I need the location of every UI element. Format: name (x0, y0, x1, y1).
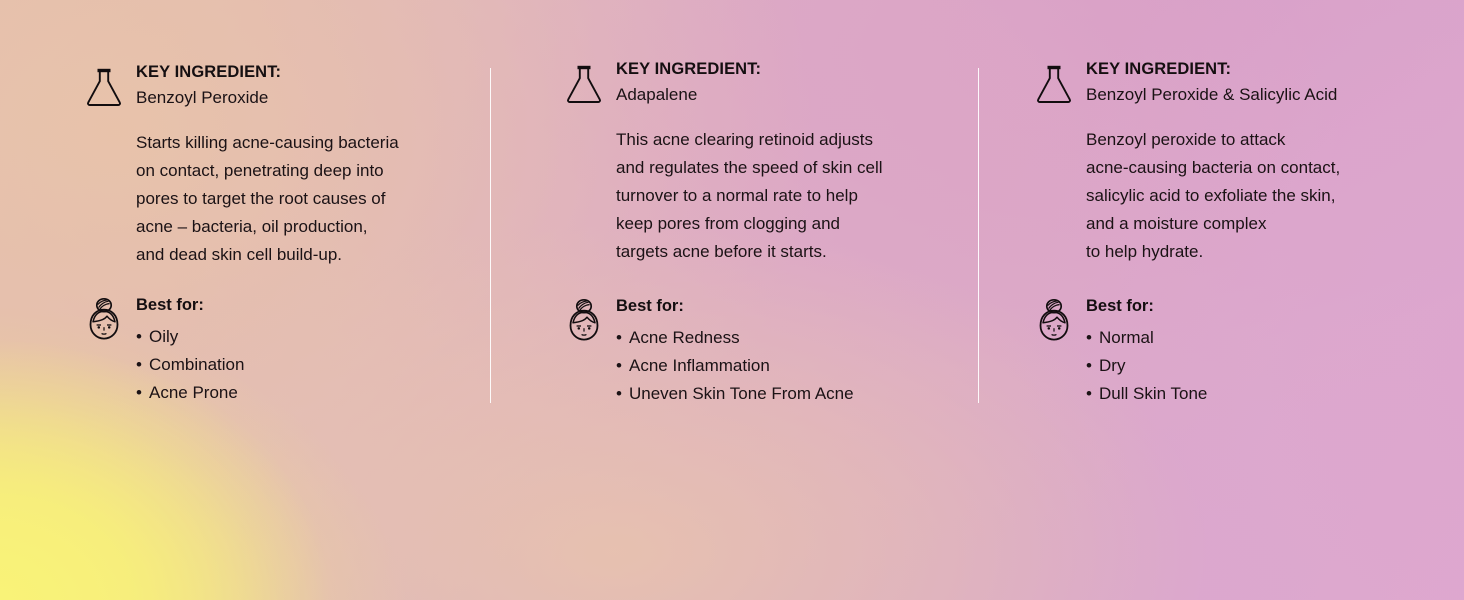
list-item: •Combination (136, 351, 470, 379)
best-for-text-3: Best for: •Normal •Dry •Dull Skin Tone (1086, 298, 1424, 408)
bullet-icon: • (616, 352, 629, 380)
key-ingredient-text-1: KEY INGREDIENT: Benzoyl Peroxide Starts … (136, 64, 470, 269)
ingredient-description-3: Benzoyl peroxide to attack acne-causing … (1086, 126, 1424, 266)
list-item-label: Uneven Skin Tone From Acne (629, 384, 854, 403)
ingredient-name-1: Benzoyl Peroxide (136, 89, 470, 107)
best-for-title-1: Best for: (136, 297, 470, 314)
flask-icon (82, 64, 126, 112)
list-item: •Acne Redness (616, 324, 952, 352)
ingredient-name-3: Benzoyl Peroxide & Salicylic Acid (1086, 86, 1424, 104)
best-for-block-2: Best for: •Acne Redness •Acne Inflammati… (562, 298, 952, 408)
bullet-icon: • (136, 379, 149, 407)
list-item-label: Acne Redness (629, 328, 740, 347)
list-item-label: Dry (1099, 356, 1125, 375)
key-ingredient-block-3: KEY INGREDIENT: Benzoyl Peroxide & Salic… (1032, 61, 1424, 266)
list-item-label: Acne Prone (149, 383, 238, 402)
bullet-icon: • (136, 351, 149, 379)
key-ingredient-block-2: KEY INGREDIENT: Adapalene This acne clea… (562, 61, 952, 266)
ingredient-description-2: This acne clearing retinoid adjusts and … (616, 126, 952, 266)
bullet-icon: • (136, 323, 149, 351)
bullet-icon: • (1086, 380, 1099, 408)
best-for-title-2: Best for: (616, 298, 952, 315)
list-item: •Dry (1086, 352, 1424, 380)
key-ingredient-text-3: KEY INGREDIENT: Benzoyl Peroxide & Salic… (1086, 61, 1424, 266)
best-for-list-3: •Normal •Dry •Dull Skin Tone (1086, 324, 1424, 408)
columns-container: KEY INGREDIENT: Benzoyl Peroxide Starts … (0, 0, 1464, 600)
column-divider-2 (978, 68, 979, 403)
column-divider-1 (490, 68, 491, 403)
list-item-label: Combination (149, 355, 244, 374)
key-ingredient-kicker-3: KEY INGREDIENT: (1086, 61, 1424, 78)
key-ingredient-kicker-1: KEY INGREDIENT: (136, 64, 470, 81)
key-ingredient-block-1: KEY INGREDIENT: Benzoyl Peroxide Starts … (82, 64, 470, 269)
bullet-icon: • (616, 380, 629, 408)
ingredient-description-1: Starts killing acne-causing bacteria on … (136, 129, 470, 269)
best-for-list-2: •Acne Redness •Acne Inflammation •Uneven… (616, 324, 952, 408)
list-item: •Oily (136, 323, 470, 351)
list-item: •Dull Skin Tone (1086, 380, 1424, 408)
face-icon (82, 297, 126, 345)
list-item-label: Normal (1099, 328, 1154, 347)
list-item-label: Dull Skin Tone (1099, 384, 1207, 403)
best-for-block-3: Best for: •Normal •Dry •Dull Skin Tone (1032, 298, 1424, 408)
best-for-list-1: •Oily •Combination •Acne Prone (136, 323, 470, 407)
list-item: •Acne Inflammation (616, 352, 952, 380)
bullet-icon: • (1086, 324, 1099, 352)
ingredient-comparison-poster: KEY INGREDIENT: Benzoyl Peroxide Starts … (0, 0, 1464, 600)
list-item: •Normal (1086, 324, 1424, 352)
bullet-icon: • (1086, 352, 1099, 380)
best-for-block-1: Best for: •Oily •Combination •Acne Prone (82, 297, 470, 407)
list-item-label: Oily (149, 327, 178, 346)
list-item-label: Acne Inflammation (629, 356, 770, 375)
list-item: •Uneven Skin Tone From Acne (616, 380, 952, 408)
flask-icon (562, 61, 606, 109)
face-icon (562, 298, 606, 346)
face-icon (1032, 298, 1076, 346)
best-for-text-2: Best for: •Acne Redness •Acne Inflammati… (616, 298, 952, 408)
key-ingredient-text-2: KEY INGREDIENT: Adapalene This acne clea… (616, 61, 952, 266)
list-item: •Acne Prone (136, 379, 470, 407)
bullet-icon: • (616, 324, 629, 352)
best-for-title-3: Best for: (1086, 298, 1424, 315)
best-for-text-1: Best for: •Oily •Combination •Acne Prone (136, 297, 470, 407)
flask-icon (1032, 61, 1076, 109)
ingredient-name-2: Adapalene (616, 86, 952, 104)
key-ingredient-kicker-2: KEY INGREDIENT: (616, 61, 952, 78)
